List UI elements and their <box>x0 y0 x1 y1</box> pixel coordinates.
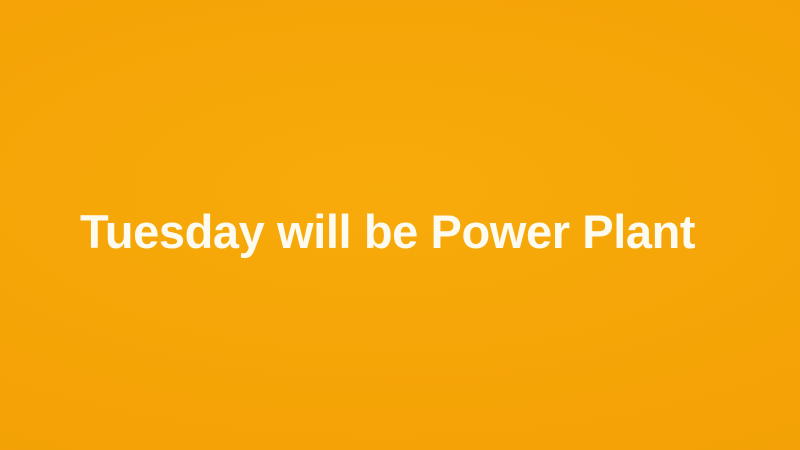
post-text-block: Tuesday will be Power Plant Day, and Bri… <box>0 0 800 450</box>
post-screenshot: Tuesday will be Power Plant Day, and Bri… <box>0 0 800 450</box>
post-line-2: Day, and Bridge Day, all <box>80 442 740 450</box>
post-line-1: Tuesday will be Power Plant <box>80 202 740 262</box>
